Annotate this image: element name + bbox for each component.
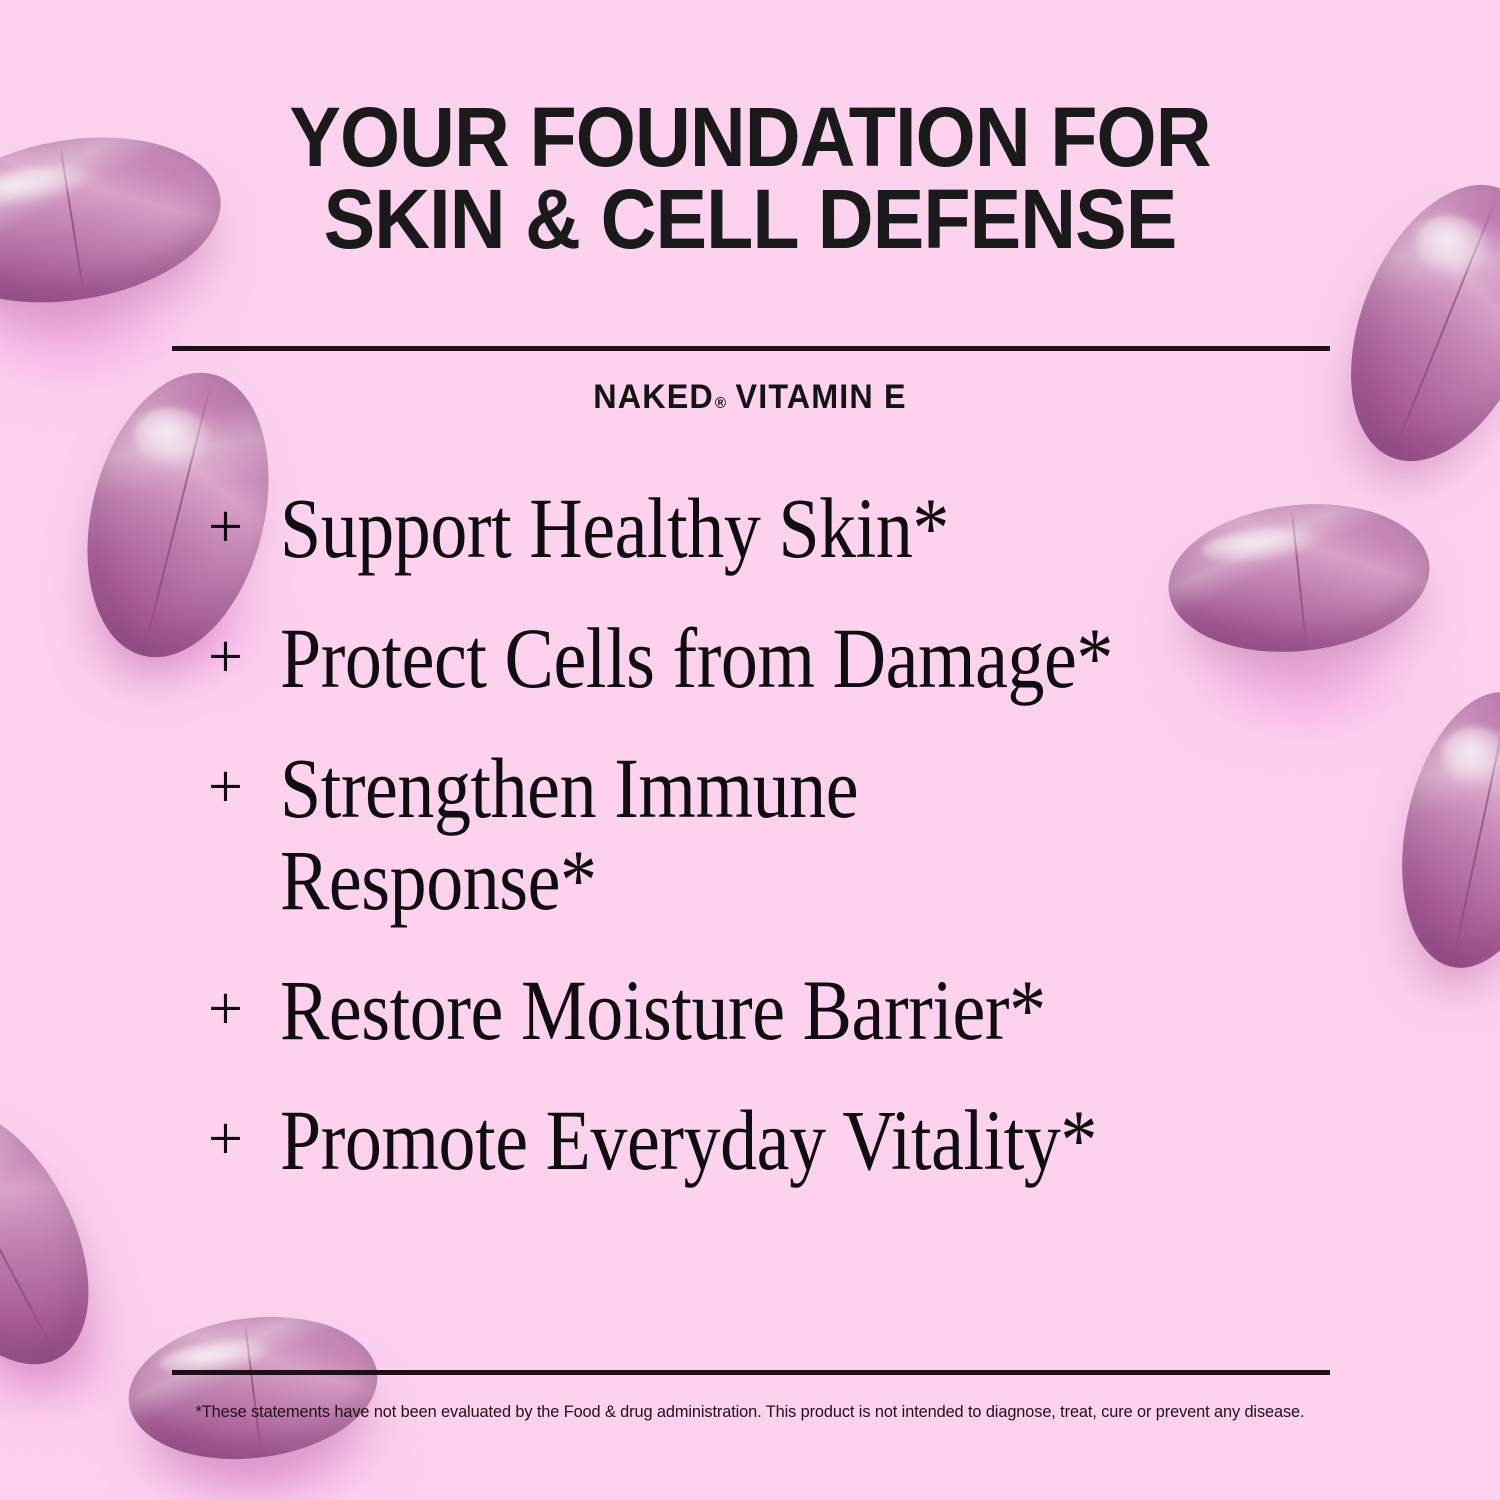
plus-icon: + [208, 964, 280, 1040]
brand-product-label: NAKED®VITAMIN E [38, 378, 1463, 417]
content-layer: YOUR FOUNDATION FOR SKIN & CELL DEFENSE … [0, 0, 1500, 1500]
benefit-text: Protect Cells from Damage* [280, 612, 1226, 704]
plus-icon: + [208, 742, 280, 818]
benefit-text: Restore Moisture Barrier* [280, 964, 1226, 1056]
promo-card: YOUR FOUNDATION FOR SKIN & CELL DEFENSE … [0, 0, 1500, 1500]
headline-line-2: SKIN & CELL DEFENSE [60, 178, 1440, 260]
plus-icon: + [208, 1094, 280, 1170]
page-title: YOUR FOUNDATION FOR SKIN & CELL DEFENSE [60, 96, 1440, 261]
registered-trademark-icon: ® [714, 395, 736, 412]
plus-icon: + [208, 612, 280, 688]
list-item: + Support Healthy Skin* [208, 482, 1380, 574]
benefit-text: Promote Everyday Vitality* [280, 1094, 1226, 1186]
list-item: + Strengthen Immune Response* [208, 742, 1380, 926]
plus-icon: + [208, 482, 280, 558]
headline-line-1: YOUR FOUNDATION FOR [60, 96, 1440, 178]
benefit-text: Support Healthy Skin* [280, 482, 1226, 574]
product-name: VITAMIN E [736, 378, 907, 416]
brand-name: NAKED [593, 378, 714, 416]
fda-disclaimer: *These statements have not been evaluate… [30, 1402, 1470, 1422]
benefits-list: + Support Healthy Skin* + Protect Cells … [208, 482, 1380, 1224]
list-item: + Protect Cells from Damage* [208, 612, 1380, 704]
divider-top [172, 346, 1330, 351]
list-item: + Restore Moisture Barrier* [208, 964, 1380, 1056]
list-item: + Promote Everyday Vitality* [208, 1094, 1380, 1186]
divider-bottom [172, 1370, 1330, 1375]
benefit-text: Strengthen Immune Response* [280, 742, 1226, 926]
